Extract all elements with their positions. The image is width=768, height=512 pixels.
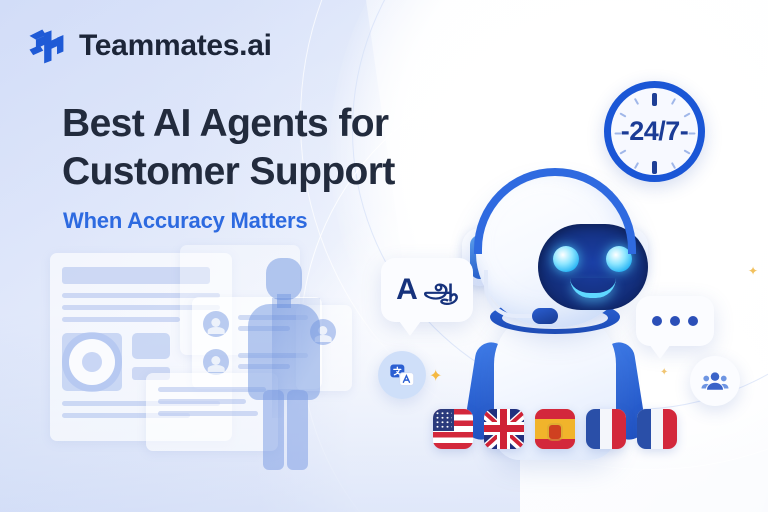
- typing-dot: [670, 316, 680, 326]
- flag-united-kingdom[interactable]: [484, 409, 524, 449]
- translate-bubble[interactable]: A ஆ: [381, 258, 473, 322]
- avatar: [203, 349, 229, 375]
- subheadline: When Accuracy Matters: [63, 208, 307, 234]
- bubble-tamil-char: ஆ: [424, 273, 458, 308]
- collage-panel-main: [50, 253, 232, 441]
- headline-line-2: Customer Support: [62, 148, 482, 196]
- teammates-logo-mark-icon: [24, 24, 68, 68]
- headline-line-1: Best AI Agents for: [62, 100, 482, 148]
- collage-panel-back: [180, 245, 300, 355]
- brand-logo[interactable]: Teammates.ai: [24, 24, 272, 68]
- collage-panel-right: [296, 305, 352, 391]
- collage-panel-contacts: [192, 297, 322, 389]
- headset-icon: [474, 168, 636, 254]
- sparkle-icon: ✦: [429, 369, 442, 385]
- avatar: [310, 319, 336, 345]
- translate-icon: [388, 361, 416, 389]
- headset-mic-arm: [484, 270, 536, 318]
- sparkle-icon: ✦: [660, 368, 668, 378]
- collage-panel-lower: [146, 373, 278, 451]
- flag-france[interactable]: [586, 409, 626, 449]
- gear-icon: [69, 339, 115, 385]
- flag-united-states[interactable]: [433, 409, 473, 449]
- brand-name: Teammates.ai: [79, 29, 272, 63]
- typing-dot: [652, 316, 662, 326]
- language-flags: [433, 409, 677, 449]
- flag-france-2[interactable]: [637, 409, 677, 449]
- headset-mic-tip: [532, 308, 558, 324]
- background-tint-left: [0, 0, 442, 512]
- page-title: Best AI Agents for Customer Support: [62, 100, 482, 196]
- hero-banner: Teammates.ai Best AI Agents for Customer…: [0, 0, 768, 512]
- flag-spain[interactable]: [535, 409, 575, 449]
- bubble-latin-char: A: [396, 273, 418, 307]
- translate-badge[interactable]: [378, 351, 426, 399]
- users-group-badge[interactable]: [690, 356, 740, 406]
- robot-smile: [570, 278, 616, 298]
- users-group-icon: [700, 366, 730, 396]
- typing-indicator-bubble[interactable]: [636, 296, 714, 346]
- sparkle-icon: ✦: [748, 265, 758, 277]
- dashboard-panels-illustration: [50, 245, 350, 475]
- avatar: [203, 311, 229, 337]
- person-silhouette: [238, 258, 330, 470]
- typing-dot: [688, 316, 698, 326]
